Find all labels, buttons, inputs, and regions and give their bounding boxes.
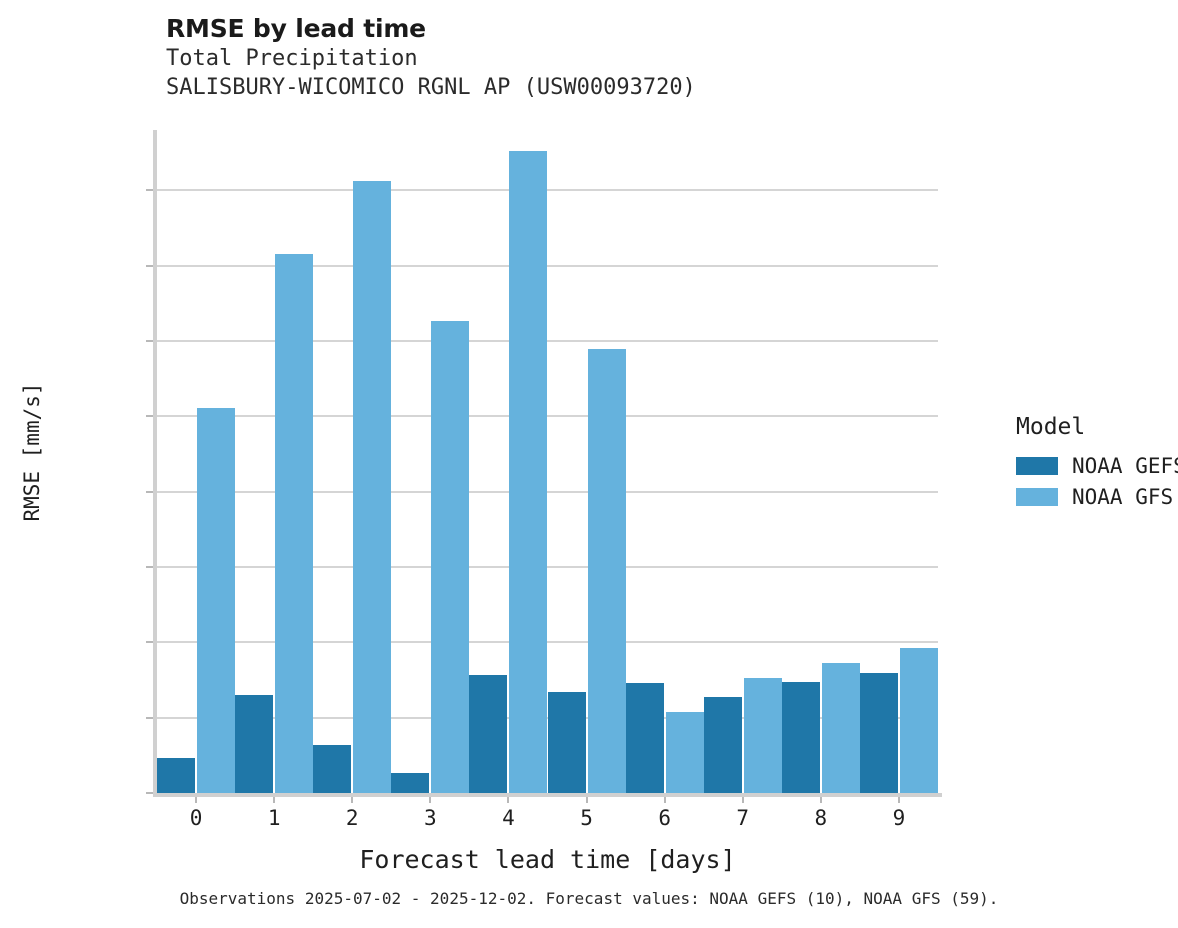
x-tick-label: 8 bbox=[791, 806, 851, 830]
bar bbox=[353, 181, 391, 793]
legend-item-label: NOAA GEFS bbox=[1072, 455, 1178, 477]
legend-rows: NOAA GEFSNOAA GFS bbox=[1016, 455, 1178, 508]
x-tick-mark bbox=[820, 797, 822, 803]
y-tick-mark bbox=[146, 491, 153, 493]
bar bbox=[588, 349, 626, 793]
bar bbox=[626, 683, 664, 793]
bar bbox=[704, 697, 742, 793]
bar bbox=[313, 745, 351, 793]
x-tick-label: 2 bbox=[322, 806, 382, 830]
y-tick-mark bbox=[146, 641, 153, 643]
x-tick-label: 1 bbox=[244, 806, 304, 830]
bar bbox=[275, 254, 313, 793]
bar bbox=[391, 773, 429, 793]
y-tick-mark bbox=[146, 415, 153, 417]
bar bbox=[197, 408, 235, 793]
subtitle-station: SALISBURY-WICOMICO RGNL AP (USW00093720) bbox=[166, 73, 696, 102]
bar bbox=[666, 712, 704, 793]
gridline bbox=[157, 641, 938, 643]
bar bbox=[157, 758, 195, 793]
legend-swatch-icon bbox=[1016, 457, 1058, 475]
y-tick-mark bbox=[146, 189, 153, 191]
legend-title: Model bbox=[1016, 414, 1178, 441]
x-tick-label: 7 bbox=[713, 806, 773, 830]
x-tick-label: 6 bbox=[635, 806, 695, 830]
footer-note: Observations 2025-07-02 - 2025-12-02. Fo… bbox=[0, 889, 1178, 908]
x-tick-mark bbox=[507, 797, 509, 803]
x-tick-mark bbox=[586, 797, 588, 803]
x-tick-mark bbox=[898, 797, 900, 803]
gridline bbox=[157, 189, 938, 191]
x-tick-mark bbox=[273, 797, 275, 803]
gridline bbox=[157, 265, 938, 267]
x-tick-mark bbox=[429, 797, 431, 803]
y-tick-mark bbox=[146, 792, 153, 794]
bar bbox=[822, 663, 860, 793]
legend: Model NOAA GEFSNOAA GFS bbox=[1016, 414, 1178, 517]
x-tick-mark bbox=[742, 797, 744, 803]
title-block: RMSE by lead time Total Precipitation SA… bbox=[166, 14, 696, 102]
bar bbox=[744, 678, 782, 793]
bar bbox=[235, 695, 273, 793]
chart-page: RMSE by lead time Total Precipitation SA… bbox=[0, 0, 1178, 928]
bar bbox=[431, 321, 469, 793]
y-tick-mark bbox=[146, 265, 153, 267]
x-axis-label: Forecast lead time [days] bbox=[157, 845, 938, 874]
legend-swatch-icon bbox=[1016, 488, 1058, 506]
gridline bbox=[157, 491, 938, 493]
bar bbox=[860, 673, 898, 793]
y-tick-mark bbox=[146, 566, 153, 568]
x-tick-mark bbox=[195, 797, 197, 803]
x-tick-label: 4 bbox=[478, 806, 538, 830]
x-tick-label: 0 bbox=[166, 806, 226, 830]
y-tick-mark bbox=[146, 340, 153, 342]
y-axis-label: RMSE [mm/s] bbox=[20, 342, 44, 562]
legend-item[interactable]: NOAA GEFS bbox=[1016, 455, 1178, 477]
bar bbox=[900, 648, 938, 793]
y-axis-spine bbox=[153, 130, 157, 797]
subtitle-variable: Total Precipitation bbox=[166, 44, 696, 73]
bar bbox=[469, 675, 507, 793]
gridline bbox=[157, 415, 938, 417]
x-tick-label: 9 bbox=[869, 806, 929, 830]
page-title: RMSE by lead time bbox=[166, 14, 696, 44]
plot-area bbox=[157, 130, 938, 793]
legend-item[interactable]: NOAA GFS bbox=[1016, 486, 1178, 508]
legend-item-label: NOAA GFS bbox=[1072, 486, 1173, 508]
x-tick-mark bbox=[664, 797, 666, 803]
gridline bbox=[157, 566, 938, 568]
y-tick-mark bbox=[146, 717, 153, 719]
bar bbox=[782, 682, 820, 793]
bar bbox=[548, 692, 586, 793]
bar bbox=[509, 151, 547, 793]
gridline bbox=[157, 340, 938, 342]
x-axis-spine bbox=[153, 793, 942, 797]
x-tick-mark bbox=[351, 797, 353, 803]
x-tick-label: 3 bbox=[400, 806, 460, 830]
x-tick-label: 5 bbox=[557, 806, 617, 830]
